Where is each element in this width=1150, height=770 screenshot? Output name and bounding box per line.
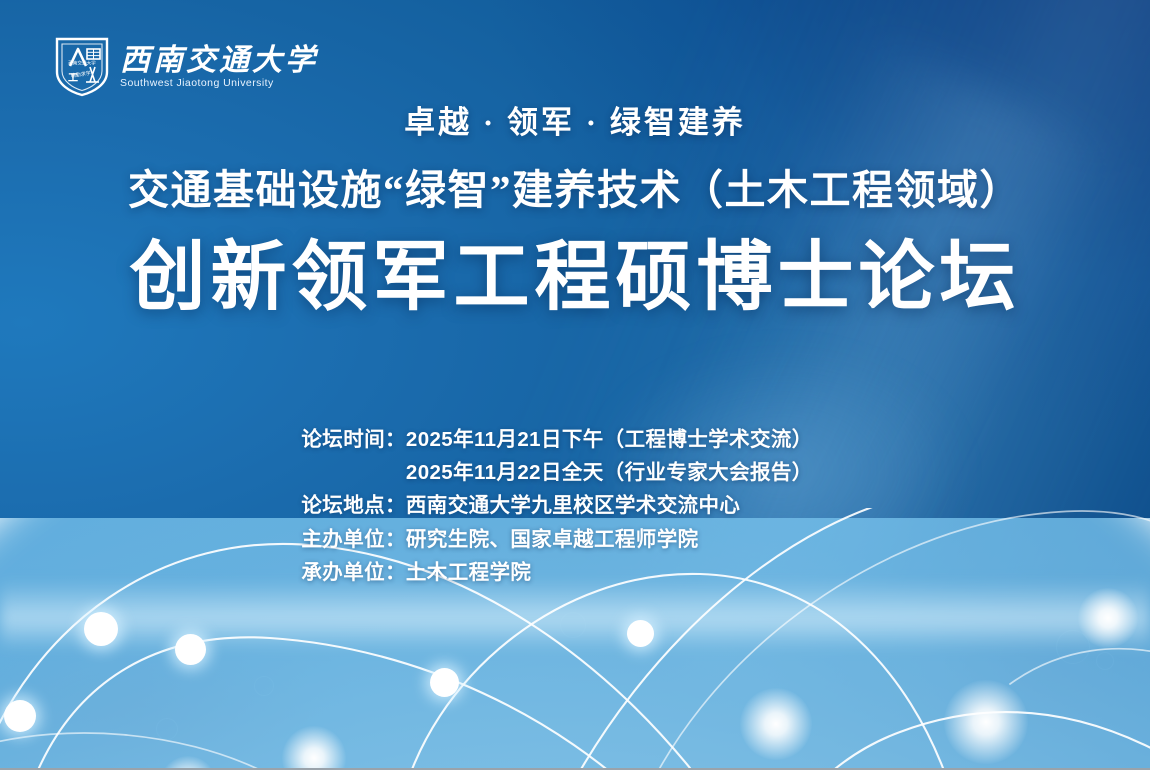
main-title: 创新领军工程硕博士论坛 xyxy=(0,234,1150,322)
university-logo: 西南交通大学 工 精勤求学 西南交通大学 Southwest Jiaotong … xyxy=(54,36,318,98)
event-detail-colon: ： xyxy=(385,523,406,556)
event-detail-row: 论坛地点：西南交通大学九里校区学术交流中心 xyxy=(259,489,891,522)
event-detail-value: 2025年11月21日下午（工程博士学术交流） xyxy=(406,423,891,456)
network-spark xyxy=(944,680,1028,764)
network-spark xyxy=(740,688,812,760)
network-node xyxy=(84,612,118,646)
event-detail-label: 承办单位 xyxy=(259,556,385,589)
network-node xyxy=(430,668,459,697)
event-detail-label: 主办单位 xyxy=(259,523,385,556)
university-name-cn: 西南交通大学 xyxy=(120,45,318,77)
svg-text:精勤求学: 精勤求学 xyxy=(70,70,91,80)
event-detail-row: 论坛时间：2025年11月21日下午（工程博士学术交流） xyxy=(259,423,891,456)
university-name-en: Southwest Jiaotong University xyxy=(120,77,318,89)
subtitle: 交通基础设施“绿智”建养技术（土木工程领域） xyxy=(0,165,1150,216)
network-node xyxy=(4,700,36,732)
network-spark xyxy=(1078,588,1138,648)
swjtu-shield-icon: 西南交通大学 工 精勤求学 xyxy=(54,36,110,98)
svg-text:西南交通大学: 西南交通大学 xyxy=(68,60,96,67)
event-detail-row: 主办单位：研究生院、国家卓越工程师学院 xyxy=(259,523,891,556)
event-detail-colon: ： xyxy=(385,423,406,456)
event-detail-value: 研究生院、国家卓越工程师学院 xyxy=(406,523,891,556)
tagline: 卓越 · 领军 · 绿智建养 xyxy=(0,104,1150,143)
title-block: 卓越 · 领军 · 绿智建养 交通基础设施“绿智”建养技术（土木工程领域） 创新… xyxy=(0,104,1150,322)
event-detail-value: 西南交通大学九里校区学术交流中心 xyxy=(406,489,891,522)
poster-canvas: 西南交通大学 工 精勤求学 西南交通大学 Southwest Jiaotong … xyxy=(0,0,1150,770)
network-node xyxy=(175,634,206,665)
event-detail-label: 论坛地点 xyxy=(259,489,385,522)
event-detail-label: 论坛时间 xyxy=(259,423,385,456)
event-detail-row: 承办单位：土木工程学院 xyxy=(259,556,891,589)
network-node xyxy=(627,620,654,647)
event-detail-colon: ： xyxy=(385,556,406,589)
event-detail-row: 论坛时间：2025年11月22日全天（行业专家大会报告） xyxy=(259,456,891,489)
event-detail-value: 2025年11月22日全天（行业专家大会报告） xyxy=(406,456,891,489)
event-details: 论坛时间：2025年11月21日下午（工程博士学术交流）论坛时间：2025年11… xyxy=(0,423,1150,589)
event-detail-colon: ： xyxy=(385,489,406,522)
event-detail-value: 土木工程学院 xyxy=(406,556,891,589)
